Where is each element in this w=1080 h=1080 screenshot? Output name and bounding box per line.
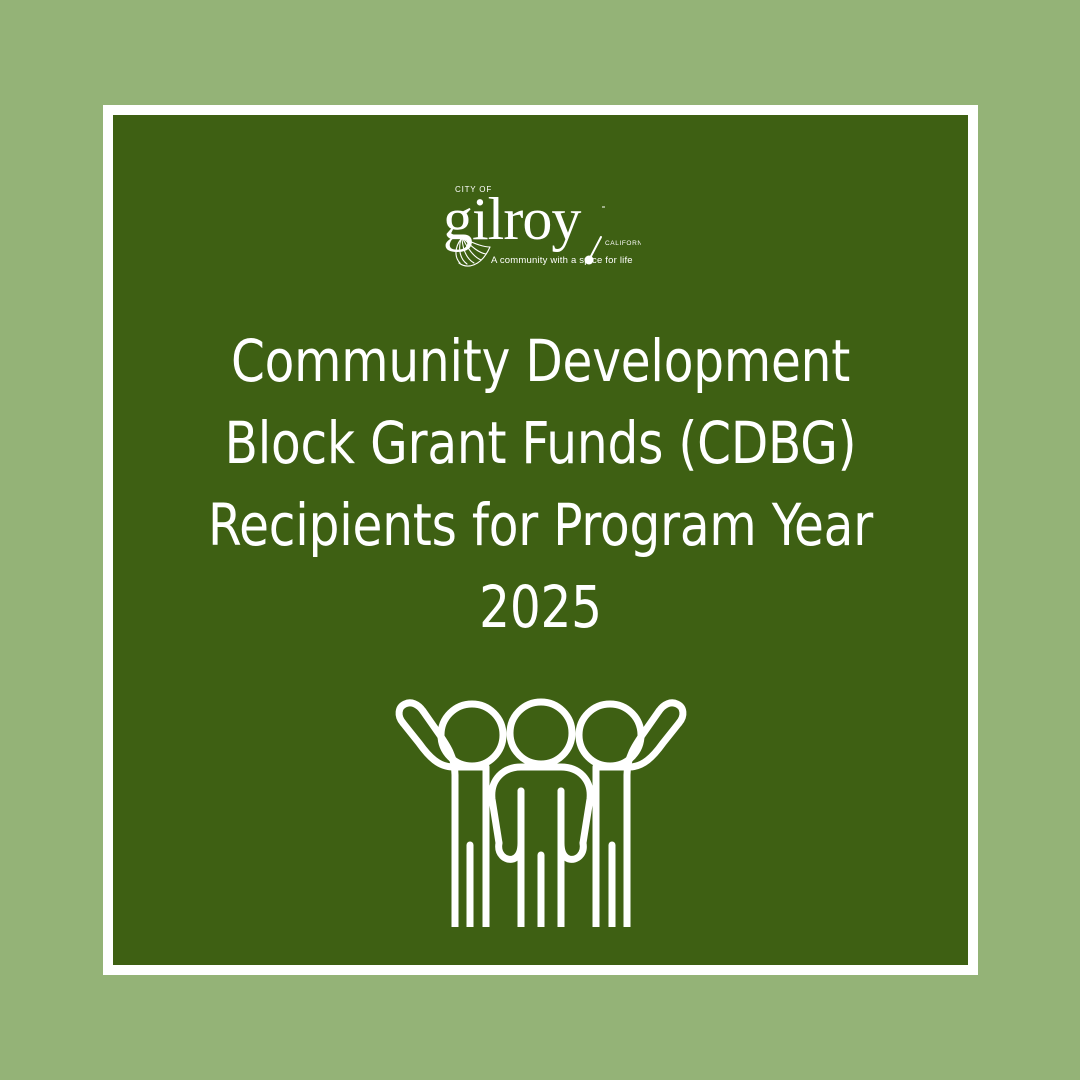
title-line-4: 2025 <box>189 566 891 648</box>
three-people-raised-arms-icon <box>393 695 689 927</box>
person-right-body <box>596 703 683 927</box>
graphic-container <box>113 695 968 927</box>
green-content-panel: CITY OF gilroy <box>113 115 968 965</box>
person-left-body <box>399 703 486 927</box>
logo-wordmark: gilroy <box>443 186 581 252</box>
page-title: Community Development Block Grant Funds … <box>163 320 918 648</box>
person-center-head <box>510 702 572 764</box>
gilroy-logo-icon: CITY OF gilroy <box>441 177 641 269</box>
logo-tagline: A community with a spice for life <box>491 255 633 266</box>
white-border-frame: CITY OF gilroy <box>103 105 978 975</box>
logo-state-label: CALIFORNIA <box>605 240 641 247</box>
person-center-body <box>491 767 589 927</box>
title-line-3: Recipients for Program Year <box>189 484 891 566</box>
city-of-gilroy-logo: CITY OF gilroy <box>113 177 968 269</box>
poster: CITY OF gilroy <box>0 0 1080 1080</box>
title-line-1: Community Development <box>189 320 891 402</box>
title-line-2: Block Grant Funds (CDBG) <box>189 402 891 484</box>
